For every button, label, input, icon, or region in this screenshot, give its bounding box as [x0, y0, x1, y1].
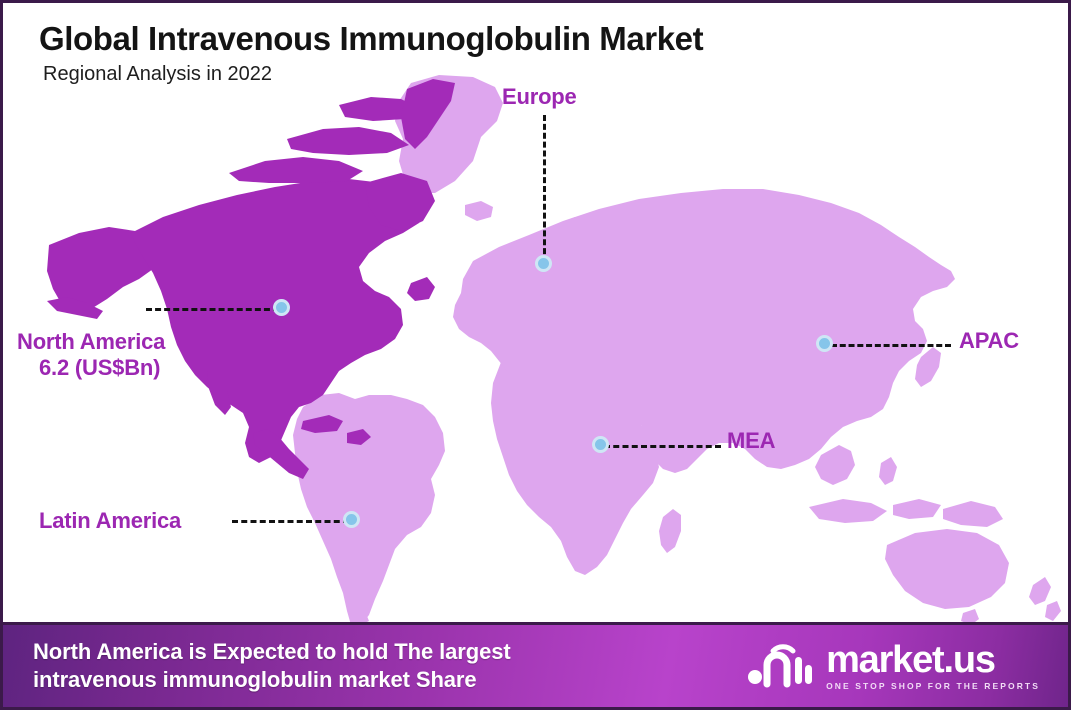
map-shape-new-zealand — [1029, 577, 1051, 605]
footer-insight-text: North America is Expected to hold The la… — [33, 638, 511, 693]
map-marker-dot-apac[interactable] — [816, 335, 833, 352]
footer-insight-line-2: intravenous immunoglobulin market Share — [33, 666, 511, 694]
region-label-latin-america: Latin America — [39, 508, 181, 533]
map-marker-dot-north-america[interactable] — [273, 299, 290, 316]
map-shape-indonesia-2 — [893, 499, 941, 519]
leader-line-europe — [543, 115, 546, 263]
map-shape-indonesia-1 — [809, 499, 887, 523]
map-shape-australia — [885, 529, 1009, 609]
market-us-logo-icon — [747, 643, 813, 689]
footer-banner: North America is Expected to hold The la… — [3, 622, 1071, 710]
region-callout-europe: Europe — [502, 84, 577, 110]
map-shape-arctic-islands-1 — [229, 157, 363, 183]
map-shape-philippines — [879, 457, 897, 485]
map-shape-newfoundland — [407, 277, 435, 301]
region-label-north-america: North America — [17, 329, 165, 354]
logo-wordmark: market.us — [826, 641, 995, 679]
region-label-europe: Europe — [502, 84, 577, 109]
infographic-canvas: Global Intravenous Immunoglobulin Market… — [0, 0, 1071, 710]
map-shape-southeast-asia — [815, 445, 855, 485]
header: Global Intravenous Immunoglobulin Market… — [3, 3, 1068, 85]
page-subtitle: Regional Analysis in 2022 — [43, 63, 1068, 85]
map-shape-arctic-islands-2 — [287, 127, 409, 155]
page-title: Global Intravenous Immunoglobulin Market — [39, 21, 1068, 57]
map-shape-new-guinea — [943, 501, 1003, 527]
map-marker-dot-europe[interactable] — [535, 255, 552, 272]
leader-line-apac — [831, 344, 951, 347]
map-shape-iceland — [465, 201, 493, 221]
region-callout-apac: APAC — [959, 328, 1019, 354]
region-callout-latin-america: Latin America — [39, 508, 181, 534]
brand-logo[interactable]: market.us ONE STOP SHOP FOR THE REPORTS — [747, 641, 1052, 691]
map-shape-new-zealand-2 — [1045, 601, 1061, 621]
leader-line-latin-america — [232, 520, 349, 523]
region-callout-north-america: North America 6.2 (US$Bn) — [17, 329, 165, 381]
leader-line-mea — [604, 445, 721, 448]
region-label-mea: MEA — [727, 428, 775, 453]
map-marker-dot-mea[interactable] — [592, 436, 609, 453]
map-region-other — [281, 75, 1061, 625]
region-value-north-america: 6.2 (US$Bn) — [39, 355, 165, 381]
map-shape-madagascar — [659, 509, 681, 553]
region-label-apac: APAC — [959, 328, 1019, 353]
map-marker-dot-latin-america[interactable] — [343, 511, 360, 528]
leader-line-north-america — [146, 308, 279, 311]
logo-tagline: ONE STOP SHOP FOR THE REPORTS — [826, 682, 1040, 691]
footer-insight-line-1: North America is Expected to hold The la… — [33, 639, 511, 664]
region-callout-mea: MEA — [727, 428, 775, 454]
logo-text-block: market.us ONE STOP SHOP FOR THE REPORTS — [826, 641, 1040, 691]
